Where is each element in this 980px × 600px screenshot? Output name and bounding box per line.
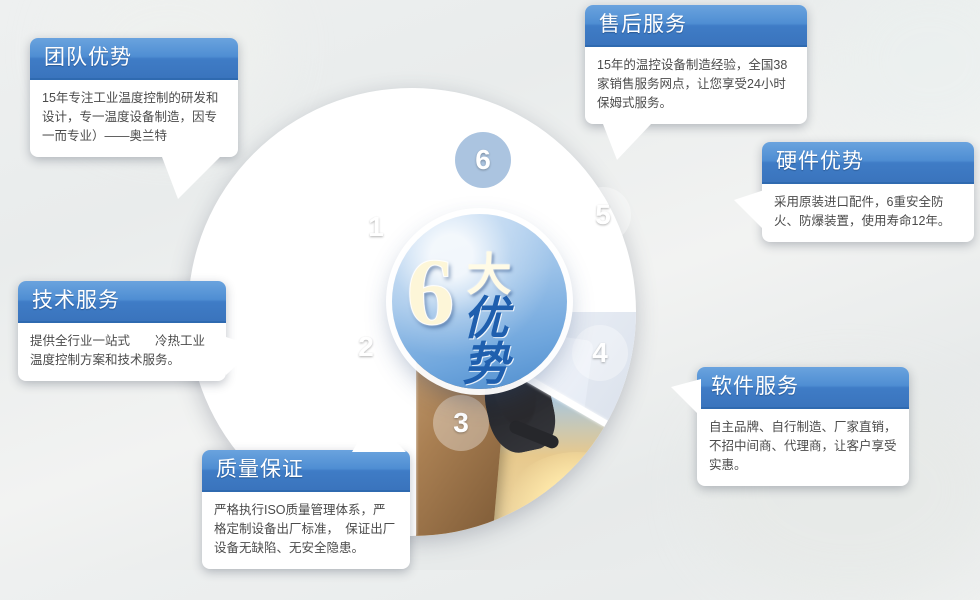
center-badge: 6 大 优势 [392,214,567,389]
callout-body-technical: 提供全行业一站式 冷热工业温度控制方案和技术服务。 [18,323,226,381]
callout-card-team[interactable]: 团队优势 15年专注工业温度控制的研发和设计，专一温度设备制造，因专一而专业）—… [30,38,238,157]
callout-title-after-sales: 售后服务 [585,5,807,47]
callout-tail-technical [226,337,256,375]
callout-title-quality: 质量保证 [202,450,410,492]
callout-card-after-sales[interactable]: 售后服务 15年的温控设备制造经验，全国38家销售服务网点，让您享受24小时保姆… [585,5,807,124]
segment-number-5-label: 5 [595,199,611,231]
callout-tail-team [162,157,220,199]
callout-tail-quality [352,418,406,452]
callout-title-software: 软件服务 [697,367,909,409]
callout-card-quality[interactable]: 质量保证 严格执行ISO质量管理体系，严格定制设备出厂标准， 保证出厂设备无缺陷… [202,450,410,569]
callout-title-hardware: 硬件优势 [762,142,974,184]
center-big-char: 大 [467,252,512,297]
segment-number-2-label: 2 [358,331,374,363]
segment-number-6[interactable]: 6 [455,132,511,188]
center-script-word: 优势 [463,296,555,388]
callout-tail-software [671,379,701,417]
segment-number-2[interactable]: 2 [338,319,394,375]
callout-body-hardware: 采用原装进口配件，6重安全防火、防爆装置，使用寿命12年。 [762,184,974,242]
segment-number-5[interactable]: 5 [575,187,631,243]
callout-body-software: 自主品牌、自行制造、厂家直销，不招中间商、代理商，让客户享受实惠。 [697,409,909,486]
callout-body-after-sales: 15年的温控设备制造经验，全国38家销售服务网点，让您享受24小时保姆式服务。 [585,47,807,124]
segment-number-1-label: 1 [368,211,384,243]
callout-card-software[interactable]: 软件服务 自主品牌、自行制造、厂家直销，不招中间商、代理商，让客户享受实惠。 [697,367,909,486]
segment-number-3-label: 3 [453,407,469,439]
segment-number-3[interactable]: 3 [433,395,489,451]
callout-card-technical[interactable]: 技术服务 提供全行业一站式 冷热工业温度控制方案和技术服务。 [18,281,226,381]
callout-tail-hardware [734,190,764,230]
sun-glow [502,452,636,536]
callout-card-hardware[interactable]: 硬件优势 采用原装进口配件，6重安全防火、防爆装置，使用寿命12年。 [762,142,974,242]
segment-number-4[interactable]: 4 [572,325,628,381]
callout-body-quality: 严格执行ISO质量管理体系，严格定制设备出厂标准， 保证出厂设备无缺陷、无安全隐… [202,492,410,569]
callout-tail-after-sales [603,124,651,160]
segment-number-6-label: 6 [475,144,491,176]
callout-body-team: 15年专注工业温度控制的研发和设计，专一温度设备制造，因专一而专业）——奥兰特 [30,80,238,157]
segment-number-4-label: 4 [592,337,608,369]
infographic-stage: 1 2 3 4 5 6 6 大 优势 团队优势 15年专注工业温度控制的研发和设… [0,0,980,570]
segment-number-1[interactable]: 1 [345,196,407,258]
callout-title-technical: 技术服务 [18,281,226,323]
background-blob-3 [830,0,980,150]
center-number: 6 [407,244,455,340]
callout-title-team: 团队优势 [30,38,238,80]
